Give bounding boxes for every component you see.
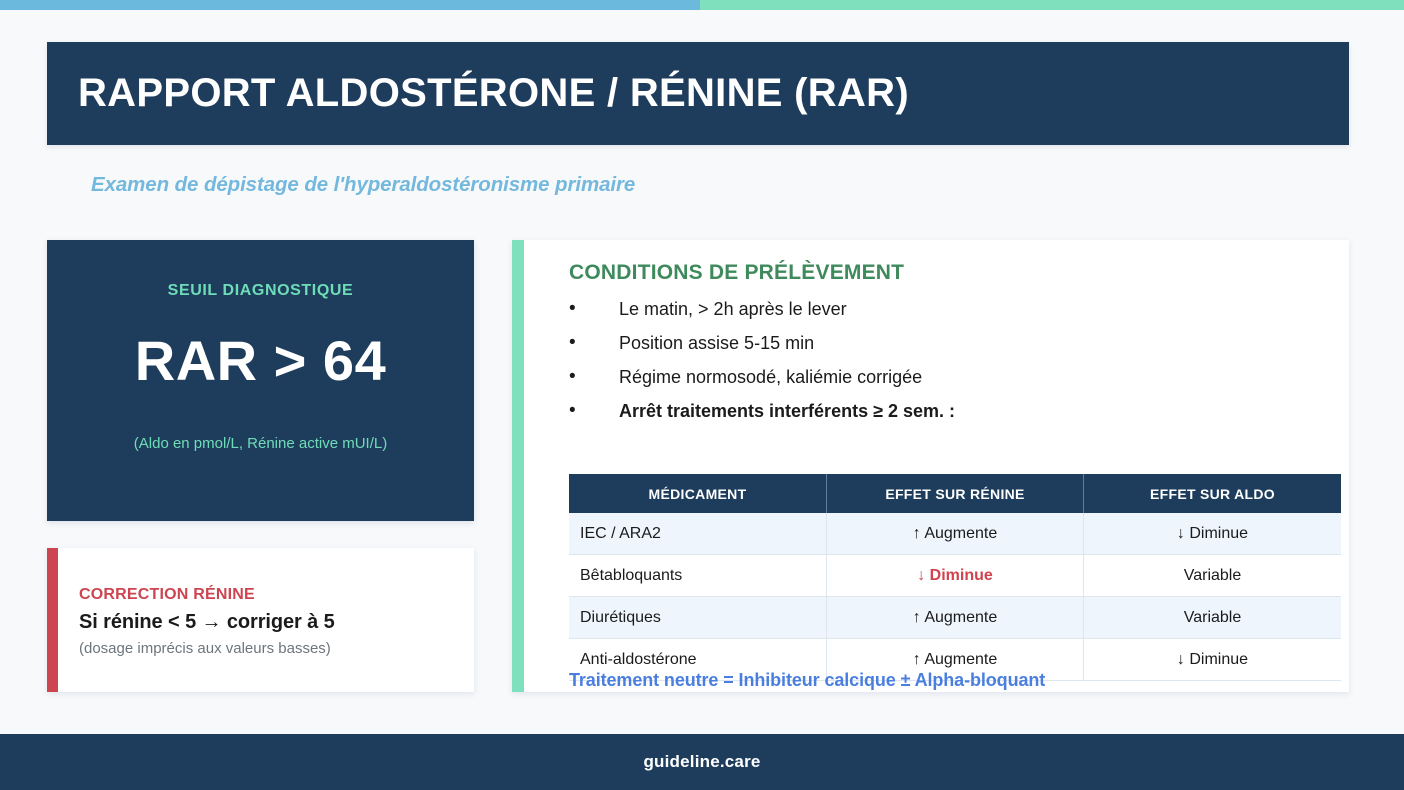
bullet-icon: • (569, 299, 619, 319)
cell-medicament: IEC / ARA2 (569, 513, 827, 555)
top-accent-right-segment (700, 0, 1404, 10)
cell-effet-renine: ↑ Augmente (827, 513, 1084, 555)
table-header-row: MÉDICAMENT EFFET SUR RÉNINE EFFET SUR AL… (569, 474, 1341, 513)
footer-bar: guideline.care (0, 734, 1404, 790)
renin-correction-card: CORRECTION RÉNINE Si rénine < 5 → corrig… (47, 548, 474, 692)
conditions-bullet-list: • Le matin, > 2h après le lever • Positi… (569, 299, 1349, 435)
bullet-icon: • (569, 367, 619, 387)
top-accent-bar (0, 0, 1404, 10)
table-row: Bêtabloquants ↓ Diminue Variable (569, 555, 1341, 597)
cell-effet-renine: ↑ Augmente (827, 597, 1084, 639)
column-header-effet-renine: EFFET SUR RÉNINE (827, 474, 1084, 513)
top-accent-left-segment (0, 0, 700, 10)
bullet-icon: • (569, 401, 619, 421)
conditions-body: CONDITIONS DE PRÉLÈVEMENT • Le matin, > … (524, 240, 1349, 692)
list-item: • Position assise 5-15 min (569, 333, 1349, 367)
threshold-units: (Aldo en pmol/L, Rénine active mUI/L) (134, 435, 387, 452)
cell-effet-aldo: Variable (1084, 555, 1342, 597)
column-header-medicament: MÉDICAMENT (569, 474, 827, 513)
cell-effet-aldo: ↓ Diminue (1084, 639, 1342, 681)
sampling-conditions-card: CONDITIONS DE PRÉLÈVEMENT • Le matin, > … (512, 240, 1349, 692)
conditions-title: CONDITIONS DE PRÉLÈVEMENT (569, 261, 1349, 285)
list-item: • Arrêt traitements interférents ≥ 2 sem… (569, 401, 1349, 435)
cell-effet-renine: ↓ Diminue (827, 555, 1084, 597)
interfering-drugs-table: MÉDICAMENT EFFET SUR RÉNINE EFFET SUR AL… (569, 474, 1341, 681)
threshold-value: RAR > 64 (135, 328, 386, 393)
cell-effet-aldo: ↓ Diminue (1084, 513, 1342, 555)
list-item-label: Régime normosodé, kaliémie corrigée (619, 367, 922, 388)
list-item-label: Le matin, > 2h après le lever (619, 299, 847, 320)
correction-accent-bar (47, 548, 58, 692)
page-subtitle: Examen de dépistage de l'hyperaldostéron… (91, 173, 635, 197)
list-item-label: Arrêt traitements interférents ≥ 2 sem. … (619, 401, 955, 422)
list-item: • Régime normosodé, kaliémie corrigée (569, 367, 1349, 401)
cell-effet-aldo: Variable (1084, 597, 1342, 639)
title-band: RAPPORT ALDOSTÉRONE / RÉNINE (RAR) (47, 42, 1349, 145)
threshold-label: SEUIL DIAGNOSTIQUE (168, 282, 354, 300)
list-item-label: Position assise 5-15 min (619, 333, 814, 354)
cell-medicament: Diurétiques (569, 597, 827, 639)
column-header-effet-aldo: EFFET SUR ALDO (1084, 474, 1342, 513)
bullet-icon: • (569, 333, 619, 353)
correction-statement: Si rénine < 5 → corriger à 5 (79, 611, 474, 634)
correction-body: CORRECTION RÉNINE Si rénine < 5 → corrig… (58, 548, 474, 692)
cell-medicament: Bêtabloquants (569, 555, 827, 597)
table-row: IEC / ARA2 ↑ Augmente ↓ Diminue (569, 513, 1341, 555)
threshold-card: SEUIL DIAGNOSTIQUE RAR > 64 (Aldo en pmo… (47, 240, 474, 521)
table-row: Diurétiques ↑ Augmente Variable (569, 597, 1341, 639)
correction-title: CORRECTION RÉNINE (79, 586, 474, 604)
footer-brand: guideline.care (643, 752, 760, 772)
conditions-accent-bar (512, 240, 524, 692)
table-footnote: Traitement neutre = Inhibiteur calcique … (569, 670, 1045, 691)
list-item: • Le matin, > 2h après le lever (569, 299, 1349, 333)
page-title: RAPPORT ALDOSTÉRONE / RÉNINE (RAR) (47, 71, 909, 116)
correction-note: (dosage imprécis aux valeurs basses) (79, 640, 474, 657)
